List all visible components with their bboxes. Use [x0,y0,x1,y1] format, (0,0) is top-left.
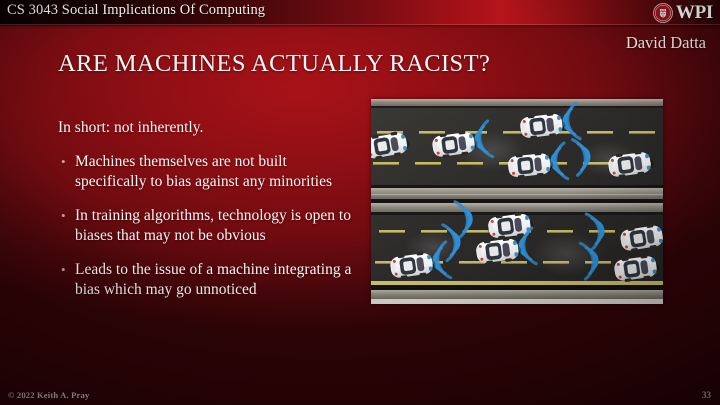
presentation-slide: CS 3043 Social Implications Of Computing… [0,0,720,405]
footer-copyright: © 2022 Keith A. Pray [8,390,89,400]
bullet-text: Leads to the issue of a machine integrat… [75,260,358,299]
bullet-marker-icon: • [58,152,75,172]
slide-body: In short: not inherently. • Machines the… [58,118,358,314]
author-name: David Datta [626,33,706,53]
slide-header-bar: CS 3043 Social Implications Of Computing… [0,0,720,25]
highway-connected-cars-image [371,99,663,304]
footer-page-number: 33 [702,390,711,400]
lead-statement: In short: not inherently. [58,118,358,137]
bullet-item: • Machines themselves are not built spec… [58,152,358,191]
bullet-item: • In training algorithms, technology is … [58,206,358,245]
slide-title: ARE MACHINES ACTUALLY RACIST? [58,50,490,78]
bullet-marker-icon: • [58,260,75,280]
course-title: CS 3043 Social Implications Of Computing [7,2,265,19]
bullet-marker-icon: • [58,206,75,226]
highway-illustration [371,99,663,304]
wpi-seal-icon [653,3,673,23]
wpi-wordmark: WPI [676,3,713,22]
wpi-logo: WPI [653,1,713,24]
bullet-item: • Leads to the issue of a machine integr… [58,260,358,299]
bullet-text: Machines themselves are not built specif… [75,152,358,191]
bullet-text: In training algorithms, technology is op… [75,206,358,245]
